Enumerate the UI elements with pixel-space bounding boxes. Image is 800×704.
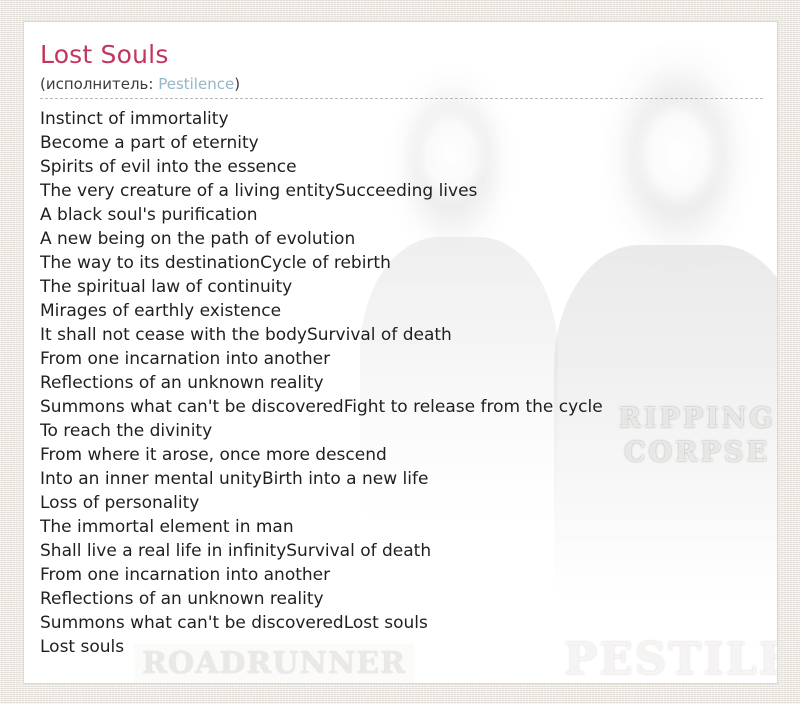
- artist-subtitle: (исполнитель: Pestilence): [40, 74, 763, 99]
- card-content: Lost Souls (исполнитель: Pestilence) Ins…: [24, 22, 778, 659]
- lyric-line: Mirages of earthly existence: [40, 299, 763, 323]
- lyric-line: Lost souls: [40, 635, 763, 659]
- lyric-line: Summons what can't be discoveredFight to…: [40, 395, 763, 419]
- artist-prefix-label: (исполнитель:: [40, 75, 158, 93]
- lyric-line: From one incarnation into another: [40, 347, 763, 371]
- lyric-line: Summons what can't be discoveredLost sou…: [40, 611, 763, 635]
- lyric-line: The very creature of a living entitySucc…: [40, 179, 763, 203]
- artist-link[interactable]: Pestilence: [158, 75, 234, 93]
- page-title: Lost Souls: [40, 40, 763, 70]
- lyric-line: Instinct of immortality: [40, 107, 763, 131]
- lyric-line: Spirits of evil into the essence: [40, 155, 763, 179]
- lyric-line: The way to its destinationCycle of rebir…: [40, 251, 763, 275]
- lyric-line: Loss of personality: [40, 491, 763, 515]
- lyric-line: Reflections of an unknown reality: [40, 371, 763, 395]
- lyric-line: Into an inner mental unityBirth into a n…: [40, 467, 763, 491]
- lyric-line: It shall not cease with the bodySurvival…: [40, 323, 763, 347]
- lyric-line: From where it arose, once more descend: [40, 443, 763, 467]
- lyric-line: A new being on the path of evolution: [40, 227, 763, 251]
- lyric-line: Shall live a real life in infinitySurviv…: [40, 539, 763, 563]
- lyric-line: Become a part of eternity: [40, 131, 763, 155]
- lyrics-card: RIPPING CORPSE ROADRUNNER PESTILENCE Los…: [23, 21, 778, 684]
- song-header: Lost Souls (исполнитель: Pestilence): [24, 22, 778, 99]
- artist-suffix-label: ): [234, 75, 240, 93]
- lyrics-body: Instinct of immortalityBecome a part of …: [24, 107, 778, 659]
- lyric-line: Reflections of an unknown reality: [40, 587, 763, 611]
- lyric-line: The spiritual law of continuity: [40, 275, 763, 299]
- lyric-line: To reach the divinity: [40, 419, 763, 443]
- lyric-line: From one incarnation into another: [40, 563, 763, 587]
- lyric-line: A black soul's purification: [40, 203, 763, 227]
- lyric-line: The immortal element in man: [40, 515, 763, 539]
